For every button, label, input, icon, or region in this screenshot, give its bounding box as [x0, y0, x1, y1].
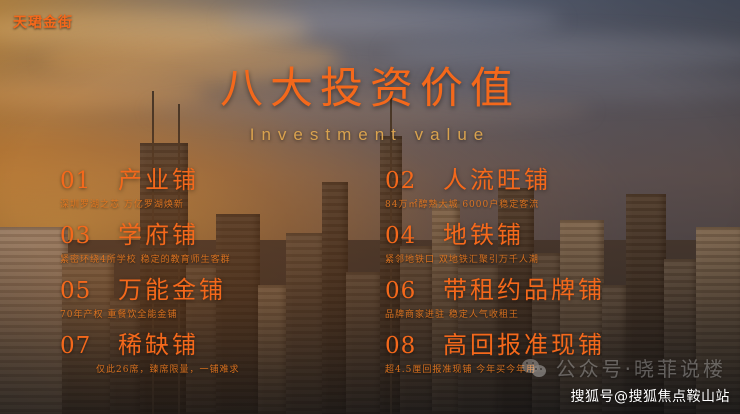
item-number: 06	[385, 278, 443, 304]
footer-credit: 搜狐号@搜狐焦点鞍山站	[571, 386, 731, 406]
item-title: 学府铺	[118, 215, 199, 250]
item-title: 万能金铺	[118, 270, 226, 305]
list-item: 02 人流旺铺 84万㎡醇熟大城 6000户稳定客流	[385, 160, 710, 202]
value-list: 01 产业铺 深圳罗湖之芯 万亿罗湖焕新 02 人流旺铺 84万㎡醇熟大城 60…	[60, 160, 710, 367]
page-subtitle: Investment value	[0, 125, 740, 145]
item-number: 04	[385, 223, 443, 249]
item-number: 08	[385, 333, 443, 359]
item-description: 深圳罗湖之芯 万亿罗湖焕新	[60, 197, 385, 210]
item-description: 品牌商家进驻 稳定人气收租王	[385, 307, 710, 320]
page-title: 八大投资价值	[0, 54, 740, 116]
list-item: 04 地铁铺 紧邻地铁口 双地铁汇聚引万千人潮	[385, 215, 710, 257]
list-item: 05 万能金铺 70年产权 重餐饮全能金铺	[60, 270, 385, 312]
item-description: 70年产权 重餐饮全能金铺	[60, 307, 385, 320]
list-item: 06 带租约品牌铺 品牌商家进驻 稳定人气收租王	[385, 270, 710, 312]
slide: 天珺金街 八大投资价值 Investment value 01 产业铺 深圳罗湖…	[0, 0, 740, 414]
item-title: 稀缺铺	[118, 325, 199, 360]
wechat-icon	[522, 357, 549, 379]
brand-logo: 天珺金街	[13, 12, 73, 32]
item-description: 84万㎡醇熟大城 6000户稳定客流	[385, 197, 710, 210]
item-description: 仅此26席，臻席限量，一铺难求	[96, 362, 385, 375]
item-number: 05	[60, 278, 118, 304]
watermark: 公众号·晓菲说楼	[522, 353, 726, 382]
slide-content: 天珺金街 八大投资价值 Investment value 01 产业铺 深圳罗湖…	[0, 0, 740, 414]
item-title: 带租约品牌铺	[443, 270, 605, 305]
item-title: 人流旺铺	[443, 160, 551, 195]
item-title: 产业铺	[118, 160, 199, 195]
list-item: 03 学府铺 紧密环绕4所学校 稳定的教育师生客群	[60, 215, 385, 257]
list-item: 01 产业铺 深圳罗湖之芯 万亿罗湖焕新	[60, 160, 385, 202]
item-number: 03	[60, 223, 118, 249]
item-number: 01	[60, 168, 118, 194]
item-number: 02	[385, 168, 443, 194]
watermark-text: 公众号·晓菲说楼	[556, 353, 726, 382]
title-block: 八大投资价值 Investment value	[0, 54, 740, 145]
item-number: 07	[60, 333, 118, 359]
item-description: 紧密环绕4所学校 稳定的教育师生客群	[60, 252, 385, 265]
list-item: 07 稀缺铺 仅此26席，臻席限量，一铺难求	[60, 325, 385, 367]
item-description: 紧邻地铁口 双地铁汇聚引万千人潮	[385, 252, 710, 265]
item-title: 地铁铺	[443, 215, 524, 250]
